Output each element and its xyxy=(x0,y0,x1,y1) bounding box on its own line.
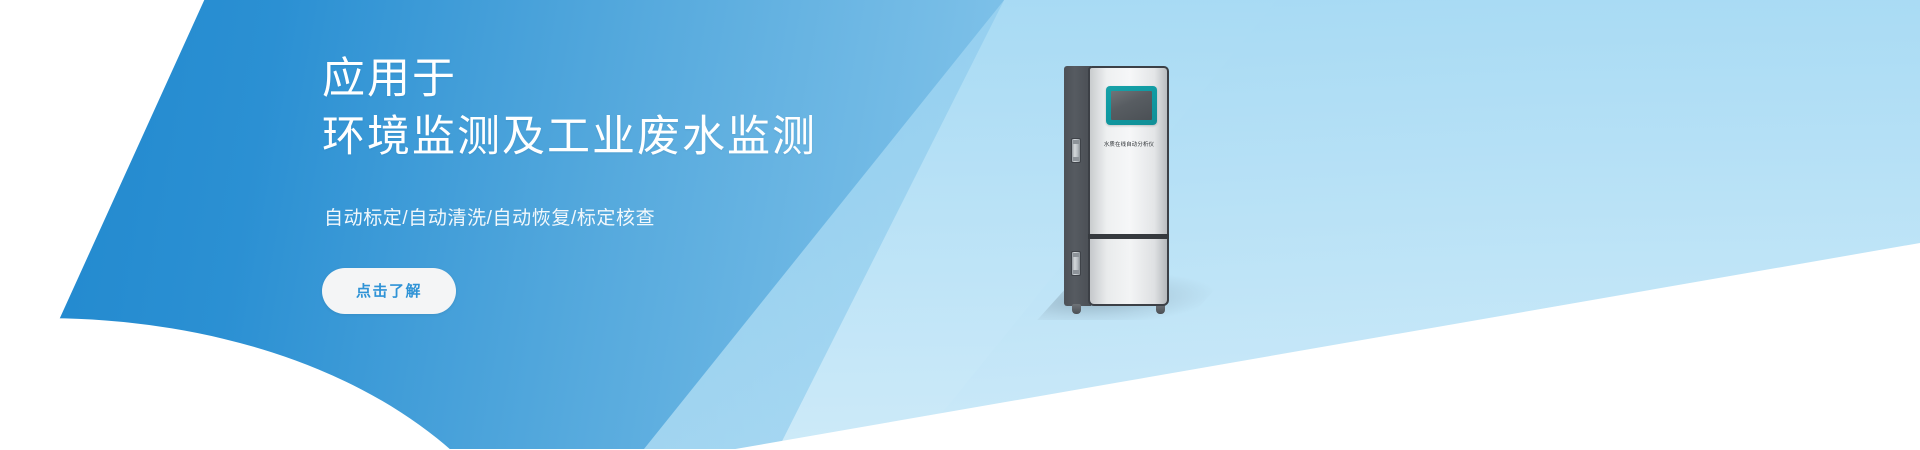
learn-more-button[interactable]: 点击了解 xyxy=(322,268,456,314)
device-nameplate-label: 水质在线自动分析仪 xyxy=(1092,143,1166,148)
banner-content: 应用于 环境监测及工业废水监测 自动标定/自动清洗/自动恢复/标定核查 点击了解 xyxy=(322,50,962,314)
banner-subtitle: 自动标定/自动清洗/自动恢复/标定核查 xyxy=(324,203,962,230)
device-display-screen xyxy=(1111,91,1152,120)
device-display-bezel xyxy=(1106,86,1157,125)
hero-banner: 应用于 环境监测及工业废水监测 自动标定/自动清洗/自动恢复/标定核查 点击了解… xyxy=(0,0,1920,450)
water-quality-analyzer-image: 水质在线自动分析仪 xyxy=(1064,66,1170,314)
headline-line-1: 应用于 xyxy=(322,55,457,103)
device-lower-cabinet xyxy=(1088,237,1169,306)
device-lower-door-handle xyxy=(1071,251,1081,276)
headline-line-2: 环境监测及工业废水监测 xyxy=(322,108,962,166)
device-upper-door-handle xyxy=(1071,138,1081,163)
device-cabinet-seam xyxy=(1088,234,1169,239)
page-title: 应用于 环境监测及工业废水监测 xyxy=(322,50,962,166)
device-caster-wheel-left xyxy=(1072,304,1081,314)
